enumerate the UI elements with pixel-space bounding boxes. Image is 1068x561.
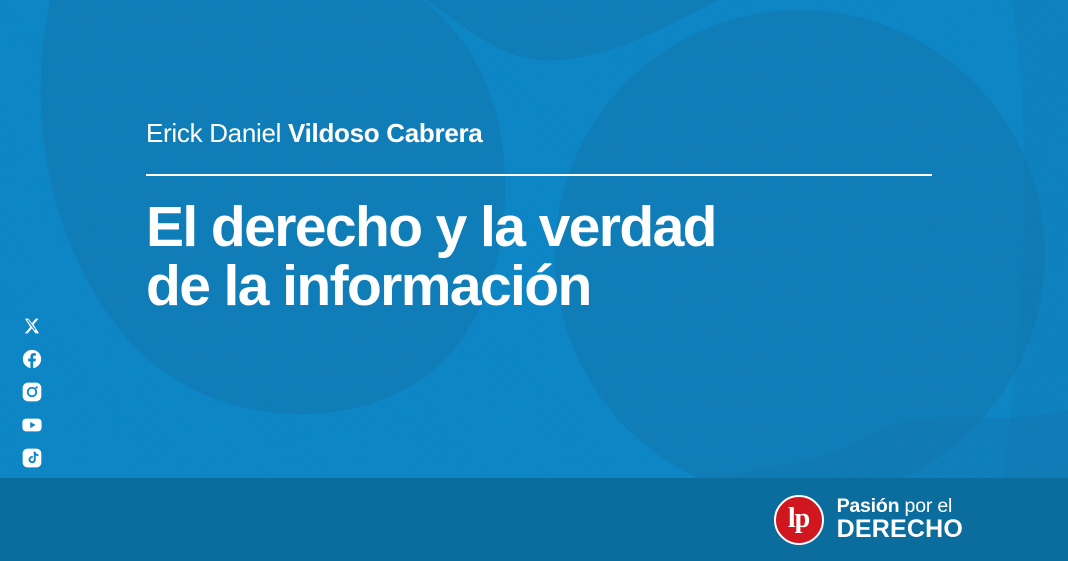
page-title-line-1: El derecho y la verdad	[146, 198, 936, 257]
brand-tagline: Pasión por el	[837, 497, 963, 517]
x-twitter-icon[interactable]	[22, 316, 42, 336]
author-last-name: Vildoso Cabrera	[288, 118, 482, 148]
instagram-icon[interactable]	[22, 382, 42, 402]
brand-tagline-regular: por el	[905, 495, 953, 517]
footer-bar: lp Pasión por el DERECHO	[0, 478, 1068, 561]
facebook-icon[interactable]	[22, 349, 42, 369]
author-first-name: Erick Daniel	[146, 118, 281, 148]
divider-rule	[146, 174, 932, 176]
brand-tagline-bold: Pasión	[837, 495, 900, 517]
page-title-line-2: de la información	[146, 257, 936, 316]
tiktok-icon[interactable]	[22, 448, 42, 468]
brand-logo[interactable]: lp Pasión por el DERECHO	[774, 495, 963, 545]
article-cover-banner: Erick Daniel Vildoso Cabrera El derecho …	[0, 0, 1068, 561]
page-title: El derecho y la verdad de la información	[146, 198, 936, 317]
brand-name: DERECHO	[837, 517, 963, 543]
youtube-icon[interactable]	[22, 415, 42, 435]
social-links-rail	[22, 316, 42, 468]
cover-text-block: Erick Daniel Vildoso Cabrera El derecho …	[146, 0, 936, 317]
lp-monogram-icon: lp	[774, 495, 824, 545]
author-byline: Erick Daniel Vildoso Cabrera	[146, 118, 936, 149]
lp-monogram-text: lp	[788, 505, 809, 533]
brand-wordmark: Pasión por el DERECHO	[837, 497, 963, 542]
